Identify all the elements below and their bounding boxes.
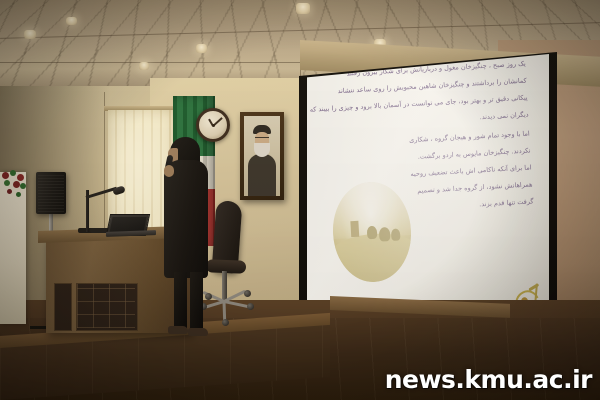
slide-image-tower [350, 221, 359, 237]
podium-panel-grid [77, 284, 135, 328]
flower-cluster [0, 170, 28, 206]
flower-icon [20, 183, 26, 189]
presenter-leg [174, 272, 187, 330]
ceiling-downlight-icon [139, 62, 149, 70]
presenter-shoe [168, 326, 188, 334]
flower-icon [2, 172, 9, 179]
presenter-hand [164, 165, 174, 177]
ceiling-downlight-icon [196, 44, 207, 53]
framed-portrait [240, 112, 284, 200]
flower-icon [10, 170, 16, 176]
chair-caster [205, 293, 212, 300]
slide-image-hill [330, 231, 413, 284]
chair-caster [244, 290, 251, 297]
portrait-glasses-icon [255, 137, 269, 141]
presenter-body [164, 160, 208, 278]
slide-image-tree [367, 226, 378, 240]
flower-icon [7, 189, 12, 194]
flower-icon [16, 192, 21, 197]
flower-icon [17, 174, 24, 181]
logo-leaf-shape [528, 283, 539, 291]
chair-caster [247, 303, 254, 310]
chair-caster [222, 319, 229, 326]
presenter-leg [190, 272, 203, 330]
clock-center-pin [212, 124, 215, 127]
source-watermark: news.kmu.ac.ir [385, 365, 592, 394]
slide-image-tree [391, 228, 401, 240]
flower-icon [4, 180, 10, 186]
ceiling-downlight-icon [66, 17, 77, 25]
slide-image-tree [379, 227, 391, 242]
speaker-grille [38, 174, 64, 212]
wall-clock [196, 108, 230, 142]
portrait-body [248, 154, 276, 196]
ceiling-downlight-icon [296, 3, 310, 14]
office-chair-gas-cylinder [222, 271, 227, 301]
portrait-image [244, 116, 280, 196]
ceiling-downlight-icon [24, 30, 36, 39]
flower-icon [13, 181, 20, 188]
presenter-shoe [188, 328, 208, 336]
lecture-hall-photo: یک روز صبح ، چنگیزخان مغول و درباریانش ب… [0, 0, 600, 400]
slide-oval-image [330, 180, 413, 284]
pa-speaker [36, 172, 66, 214]
podium-side-panel [54, 283, 72, 331]
